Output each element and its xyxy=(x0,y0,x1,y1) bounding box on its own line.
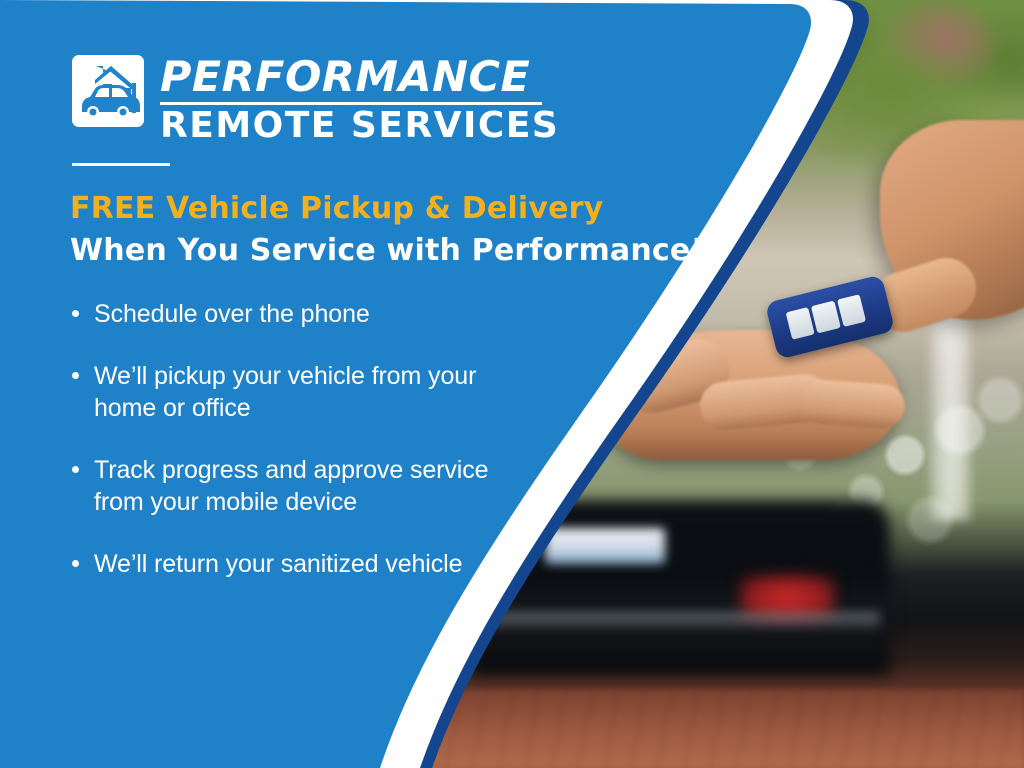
list-item-label: We’ll return your sanitized vehicle xyxy=(94,550,462,578)
content-panel: PERFORMANCE REMOTE SERVICES FREE Vehicle… xyxy=(0,0,700,768)
key-fob-button xyxy=(837,294,866,327)
key-fob-button xyxy=(811,301,840,334)
brand-name-secondary: REMOTE SERVICES xyxy=(160,108,559,144)
brand-name-primary: PERFORMANCE xyxy=(160,56,567,98)
list-item-label: We’ll pickup your vehicle from your home… xyxy=(94,362,476,422)
brand-wordmark: PERFORMANCE REMOTE SERVICES xyxy=(160,55,559,144)
house-car-icon xyxy=(72,55,144,127)
headline-block: FREE Vehicle Pickup & Delivery When You … xyxy=(70,192,690,267)
hand-finger xyxy=(799,378,907,429)
list-item: We’ll return your sanitized vehicle xyxy=(68,548,538,580)
list-item-label: Track progress and approve service from … xyxy=(94,456,488,516)
key-fob-button xyxy=(786,307,815,340)
brand-logo: PERFORMANCE REMOTE SERVICES xyxy=(72,55,559,144)
headline-secondary: When You Service with Performance! xyxy=(70,234,690,268)
benefits-list: Schedule over the phone We’ll pickup you… xyxy=(68,298,538,580)
headline-primary: FREE Vehicle Pickup & Delivery xyxy=(70,192,690,226)
key-fob-buttons xyxy=(786,294,867,340)
bullet-dot-icon xyxy=(72,466,79,473)
bullet-dot-icon xyxy=(72,560,79,567)
promo-banner: PERFORMANCE REMOTE SERVICES FREE Vehicle… xyxy=(0,0,1024,768)
bullet-dot-icon xyxy=(72,372,79,379)
bullet-dot-icon xyxy=(72,310,79,317)
list-item: Schedule over the phone xyxy=(68,298,538,330)
list-item: We’ll pickup your vehicle from your home… xyxy=(68,360,538,424)
list-item: Track progress and approve service from … xyxy=(68,454,538,518)
section-divider xyxy=(72,163,170,166)
list-item-label: Schedule over the phone xyxy=(94,300,370,328)
